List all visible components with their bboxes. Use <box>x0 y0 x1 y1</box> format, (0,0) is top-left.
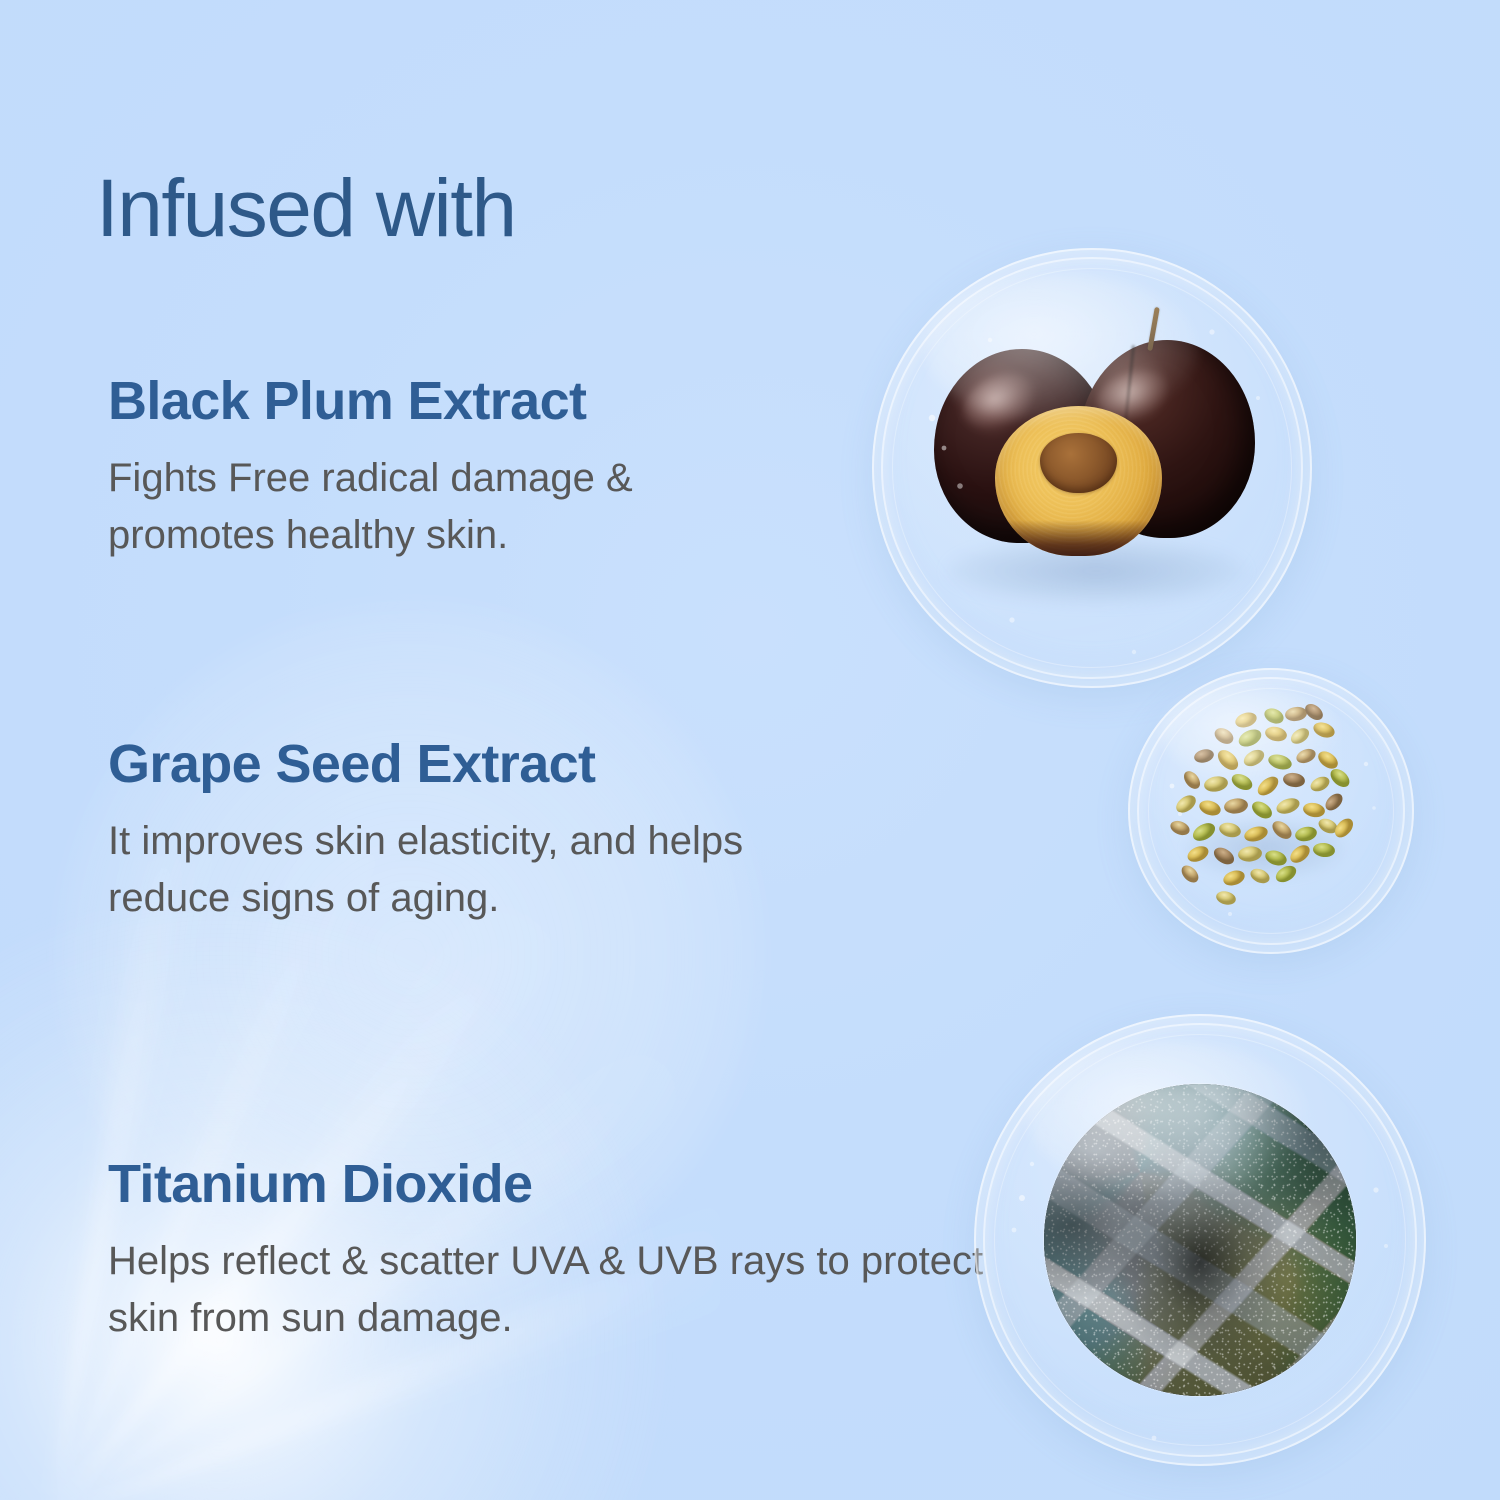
titanium-dioxide-petri-dish-image <box>974 1014 1426 1466</box>
petri-dish-inner-rim <box>1148 688 1394 934</box>
ingredient-block-titanium-dioxide: Titanium Dioxide Helps reflect & scatter… <box>108 1155 988 1347</box>
black-plum-petri-dish-image <box>872 248 1312 688</box>
ingredient-description: It improves skin elasticity, and helps r… <box>108 813 788 927</box>
titanium-dioxide-crystals <box>1044 1084 1356 1396</box>
infographic-canvas: Infused with Black Plum Extract Fights F… <box>0 0 1500 1500</box>
ingredient-description: Fights Free radical damage & promotes he… <box>108 450 788 564</box>
ingredient-name: Black Plum Extract <box>108 372 988 430</box>
ingredient-description: Helps reflect & scatter UVA & UVB rays t… <box>108 1233 988 1347</box>
crystal-depth-blur <box>1044 1084 1356 1396</box>
ingredient-block-black-plum: Black Plum Extract Fights Free radical d… <box>108 372 988 564</box>
ingredient-name: Grape Seed Extract <box>108 735 988 793</box>
ingredient-name: Titanium Dioxide <box>108 1155 988 1213</box>
petri-dish-inner-rim <box>892 268 1292 668</box>
ingredient-block-grape-seed: Grape Seed Extract It improves skin elas… <box>108 735 988 927</box>
page-title: Infused with <box>96 168 516 250</box>
grape-seed-petri-dish-image <box>1128 668 1414 954</box>
